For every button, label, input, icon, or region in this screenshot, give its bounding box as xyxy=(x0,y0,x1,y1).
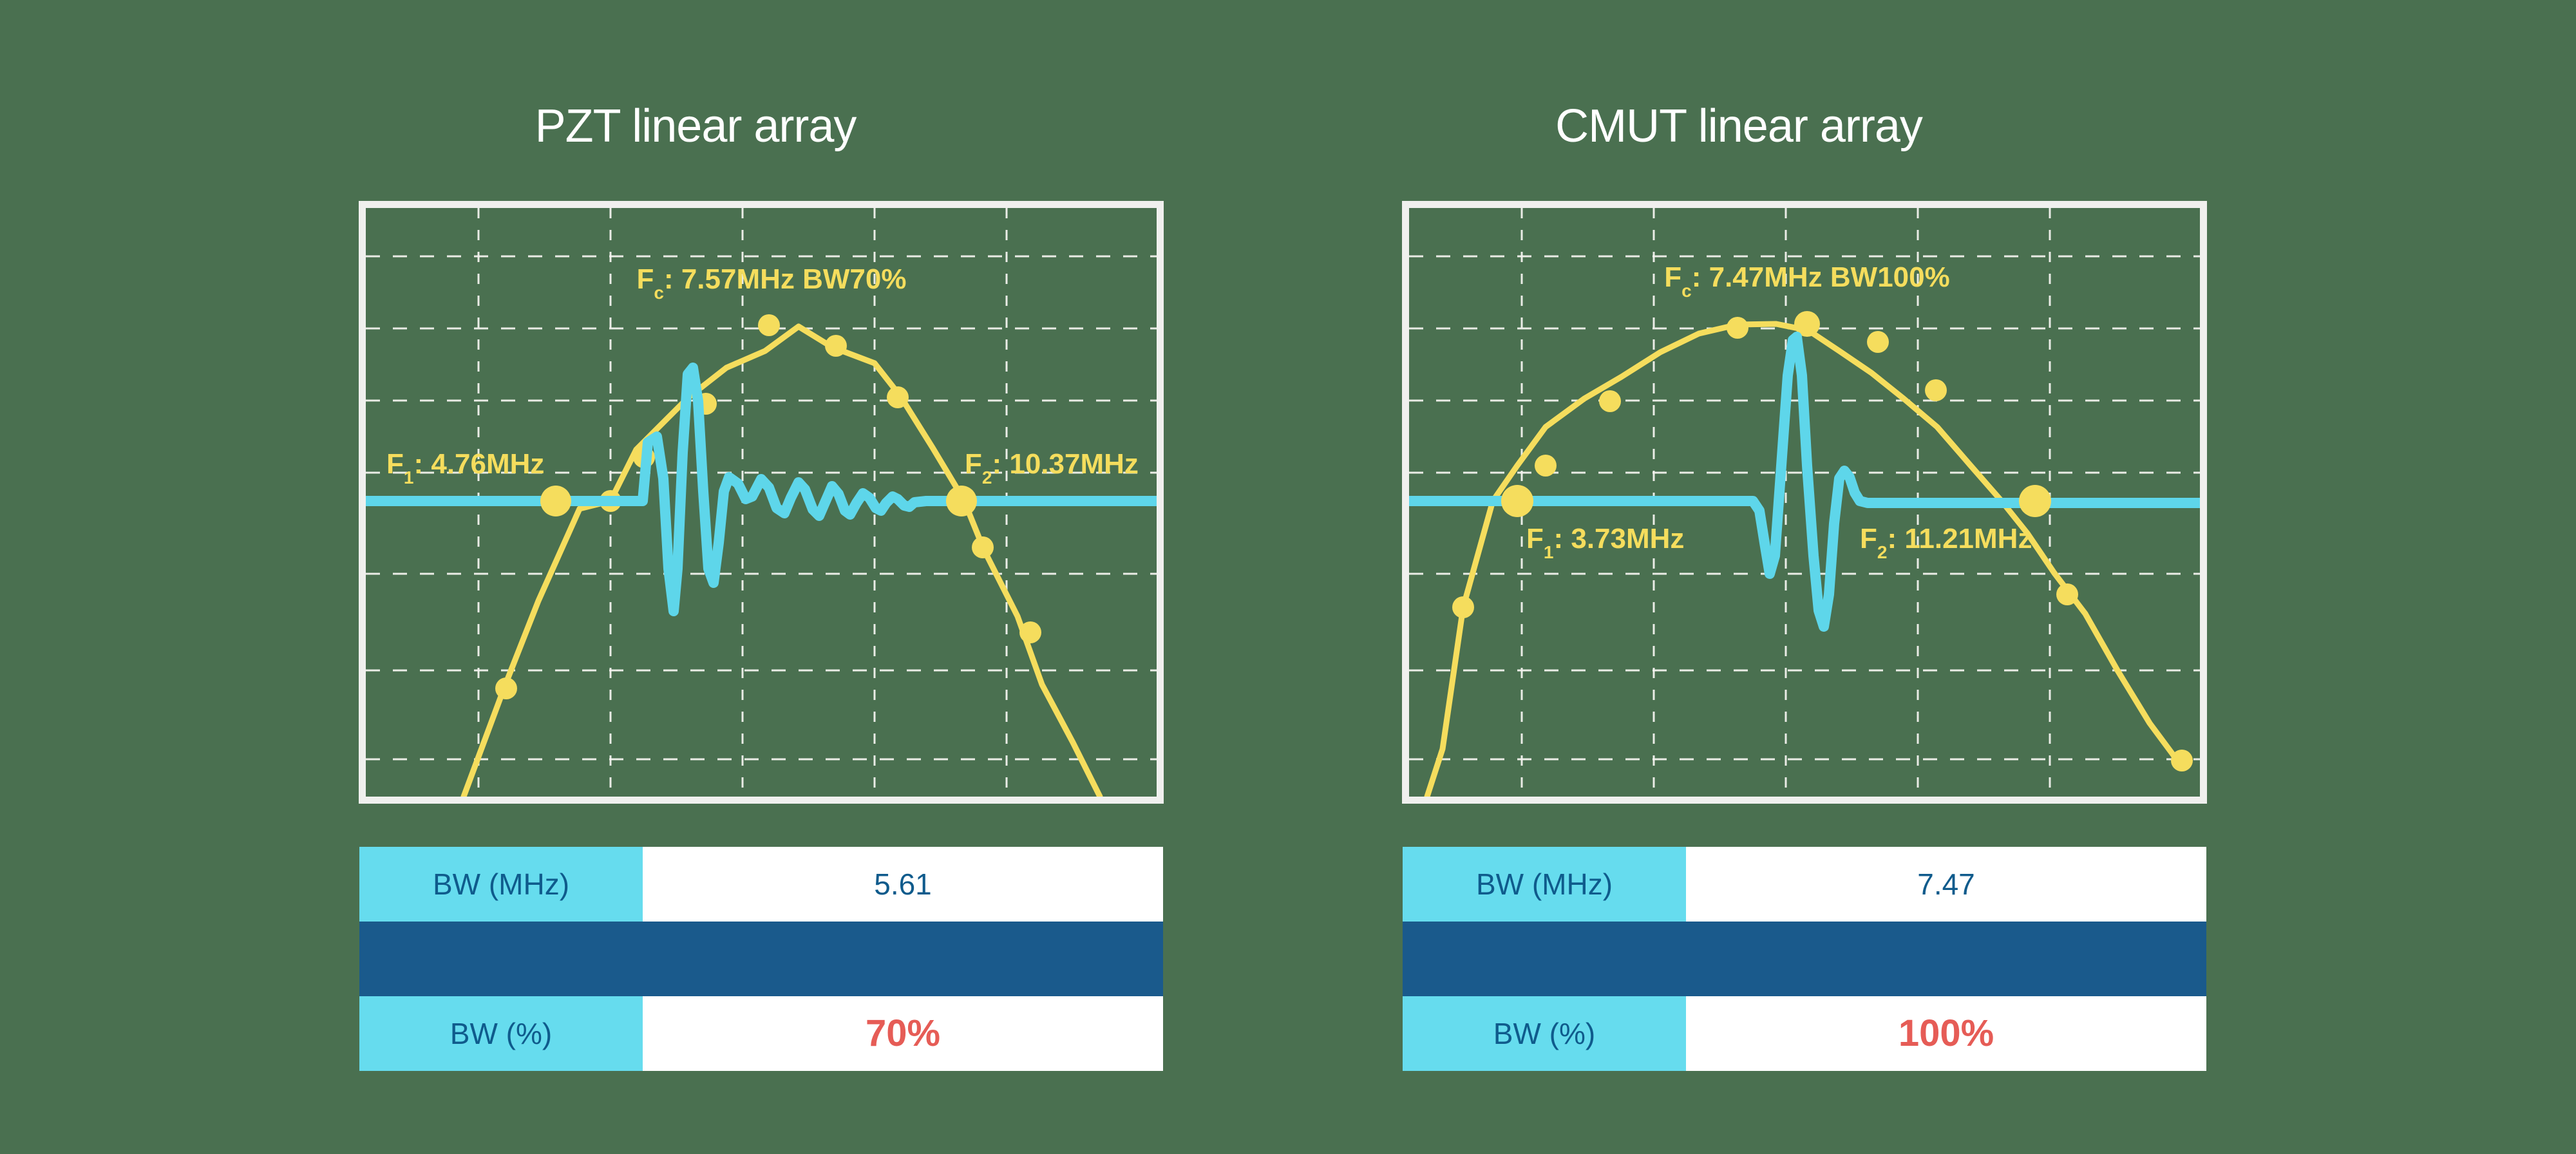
table-row: BW (%) 100% xyxy=(1403,996,2206,1071)
chart-svg-cmut: Fc: 7.47MHz BW100% F1: 3.73MHz F2: 11.21… xyxy=(1409,208,2200,797)
table-row: BW (%) 70% xyxy=(359,996,1163,1071)
table-divider-cmut xyxy=(1403,922,2206,996)
annotation-fc-pzt: Fc: 7.57MHz BW70% xyxy=(636,263,906,303)
annotation-fc-cmut: Fc: 7.47MHz BW100% xyxy=(1664,261,1949,301)
marker-f2-pzt xyxy=(946,486,977,516)
bw-pct-label-pzt: BW (%) xyxy=(359,996,643,1071)
panel-pzt: PZT linear array xyxy=(245,0,1146,1154)
marker-f1-pzt xyxy=(540,486,571,516)
panel-title-cmut: CMUT linear array xyxy=(1288,103,2190,149)
bw-pct-value-cmut: 100% xyxy=(1686,996,2206,1071)
table-divider-pzt xyxy=(359,922,1163,996)
chart-svg-pzt: Fc: 7.57MHz BW70% F1: 4.76MHz F2: 10.37M… xyxy=(366,208,1157,797)
chart-frame-cmut: Fc: 7.47MHz BW100% F1: 3.73MHz F2: 11.21… xyxy=(1402,201,2207,804)
chart-plot-area-cmut: Fc: 7.47MHz BW100% F1: 3.73MHz F2: 11.21… xyxy=(1409,208,2200,797)
spectrum-curve-pzt xyxy=(464,326,1100,797)
marker-f2-cmut xyxy=(2019,485,2051,517)
bw-table-cmut: BW (MHz) 7.47 BW (%) 100% xyxy=(1403,847,2206,1071)
table-row: BW (MHz) 5.61 xyxy=(359,847,1163,922)
bw-mhz-value-cmut: 7.47 xyxy=(1686,847,2206,922)
figure-canvas: PZT linear array xyxy=(0,0,2576,1154)
bw-mhz-label-pzt: BW (MHz) xyxy=(359,847,643,922)
annotation-f1-pzt: F1: 4.76MHz xyxy=(386,448,544,487)
bw-pct-label-cmut: BW (%) xyxy=(1403,996,1686,1071)
panel-cmut: CMUT linear array xyxy=(1288,0,2190,1154)
impulse-waveform-cmut xyxy=(1409,337,2200,627)
annotation-f2-pzt: F2: 10.37MHz xyxy=(965,448,1139,487)
chart-plot-area-pzt: Fc: 7.57MHz BW70% F1: 4.76MHz F2: 10.37M… xyxy=(366,208,1157,797)
bw-mhz-label-cmut: BW (MHz) xyxy=(1403,847,1686,922)
bw-mhz-value-pzt: 5.61 xyxy=(643,847,1163,922)
table-row: BW (MHz) 7.47 xyxy=(1403,847,2206,922)
bw-table-pzt: BW (MHz) 5.61 BW (%) 70% xyxy=(359,847,1163,1071)
annotation-f1-cmut: F1: 3.73MHz xyxy=(1526,523,1684,562)
panel-title-pzt: PZT linear array xyxy=(245,103,1146,149)
bw-pct-value-pzt: 70% xyxy=(643,996,1163,1071)
annotation-f2-cmut: F2: 11.21MHz xyxy=(1860,523,2032,562)
marker-f1-cmut xyxy=(1501,485,1533,517)
chart-frame-pzt: Fc: 7.57MHz BW70% F1: 4.76MHz F2: 10.37M… xyxy=(359,201,1164,804)
